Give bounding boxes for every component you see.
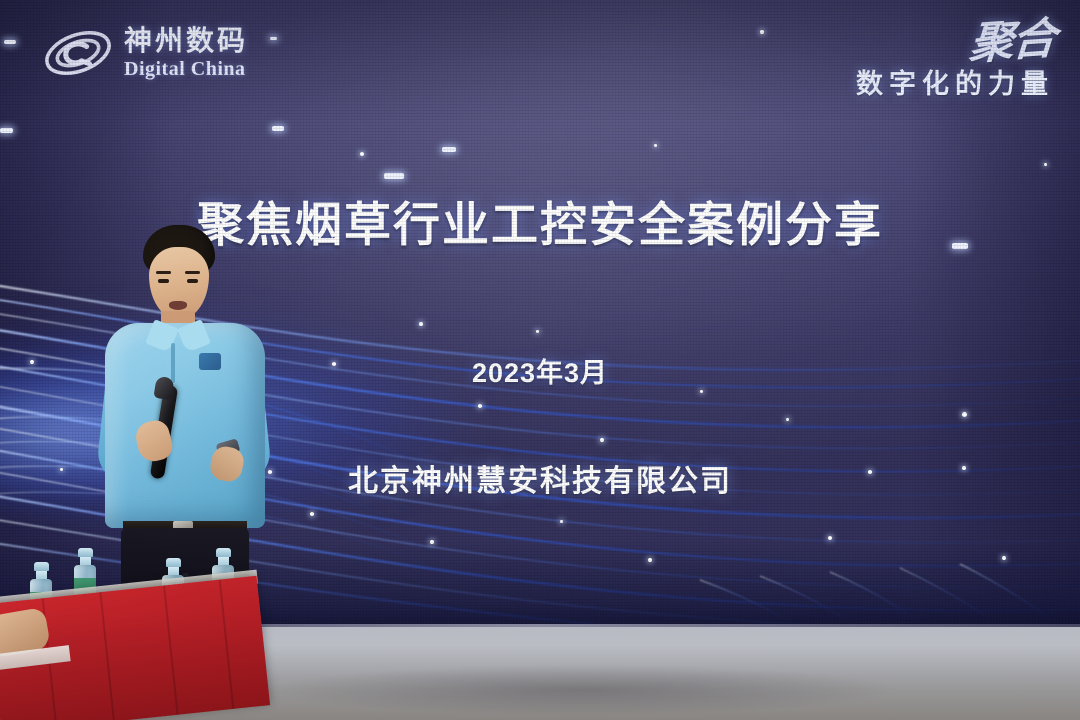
light-streak <box>272 126 284 131</box>
presenter-eye <box>187 279 198 283</box>
light-particle <box>760 30 764 34</box>
bottle-cap <box>166 558 181 567</box>
swirl-logo-icon <box>42 22 114 84</box>
shirt-chest-logo <box>199 353 221 370</box>
presenter <box>95 225 275 625</box>
presenter-polo-shirt <box>105 323 265 528</box>
light-streak <box>270 37 277 40</box>
brand-name-en: Digital China <box>124 59 248 79</box>
digital-china-logo: 神州数码 Digital China <box>42 22 248 84</box>
bottle-cap <box>216 548 231 557</box>
bottle-cap <box>78 548 93 557</box>
event-calligraphy: 聚合 <box>968 18 1056 66</box>
event-logo: 聚合 数字化的力量 <box>856 18 1054 101</box>
skirt-fold <box>219 580 235 709</box>
light-streak <box>0 128 13 133</box>
light-particle <box>360 152 364 156</box>
light-streak <box>384 173 404 179</box>
skirt-fold <box>163 585 179 714</box>
presenter-mouth <box>169 301 187 310</box>
bottle-neck <box>168 567 179 575</box>
bottle-neck <box>218 557 229 565</box>
presenter-placket <box>171 343 175 383</box>
bottle-neck <box>80 557 91 565</box>
presenter-brow <box>156 271 171 274</box>
skirt-fold <box>99 592 115 720</box>
light-streak <box>442 147 456 152</box>
microphone-head-icon <box>153 376 174 401</box>
event-subtitle: 数字化的力量 <box>856 62 1054 101</box>
light-particle <box>654 144 657 147</box>
presenter-eye <box>158 279 169 283</box>
bottle-neck <box>36 571 47 579</box>
presenter-brow <box>185 271 200 274</box>
brand-name-cn: 神州数码 <box>124 27 248 55</box>
photo-scene: 神州数码 Digital China 聚合 数字化的力量 聚焦烟草行业工控安全案… <box>0 0 1080 720</box>
light-streak <box>4 40 16 44</box>
bottle-cap <box>34 562 49 571</box>
light-particle <box>1044 163 1047 166</box>
